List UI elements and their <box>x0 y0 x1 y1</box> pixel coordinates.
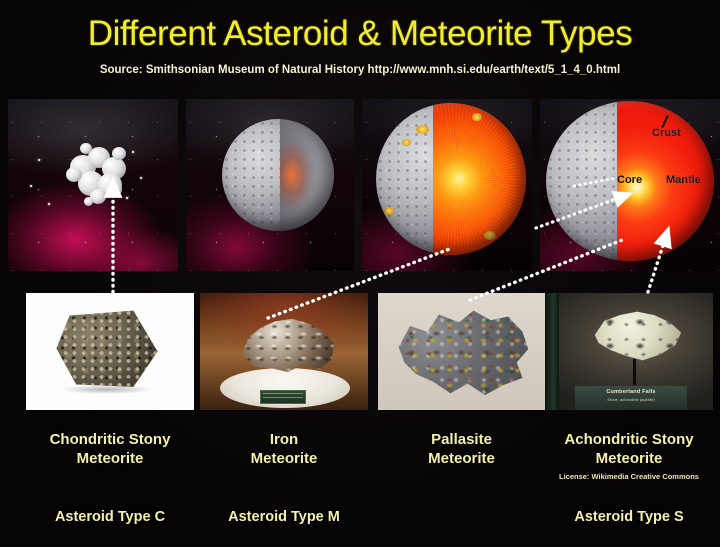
label-mantle: Mantle <box>666 174 701 186</box>
slide-canvas: Different Asteroid & Meteorite Types Sou… <box>0 0 720 547</box>
diagram-molten-differentiated-body <box>362 99 532 271</box>
diagram-differentiated-body-labelled: Crust Core Mantle <box>540 99 720 271</box>
chondritic-stony-meteorite-photo <box>26 293 194 410</box>
museum-placard-subtitle: Stone, achondrite (aubrite) <box>575 397 687 402</box>
museum-placard-title: Cumberland Falls <box>575 389 687 395</box>
caption-achondritic-stony-meteorite: Achondritic Stony Meteorite <box>545 430 713 468</box>
iron-meteorite-texture <box>234 315 338 377</box>
caption-line-2: Meteorite <box>26 449 194 468</box>
caption-line-2: Meteorite <box>378 449 545 468</box>
museum-placard: Cumberland Falls Stone, achondrite (aubr… <box>575 386 687 410</box>
achondrite-texture <box>589 307 685 365</box>
caption-pallasite-meteorite: Pallasite Meteorite <box>378 430 545 468</box>
diagram-undifferentiated-body <box>186 99 354 271</box>
asteroid-type-m: Asteroid Type M <box>200 509 368 525</box>
caption-chondritic-stony-meteorite: Chondritic Stony Meteorite <box>26 430 194 468</box>
diagram-rubble-pile-asteroid <box>8 99 178 271</box>
rubble-pile-asteroid-icon <box>60 141 134 207</box>
caption-line-1: Iron <box>200 430 368 449</box>
license-note: License: Wikimedia Creative Commons <box>545 472 713 481</box>
chondrite-texture <box>52 309 162 391</box>
pallasite-meteorite-photo <box>378 293 545 410</box>
placard-text-lines <box>263 393 303 401</box>
pallasite-olivine-texture <box>390 303 534 399</box>
caption-line-1: Achondritic Stony <box>545 430 713 449</box>
caption-iron-meteorite: Iron Meteorite <box>200 430 368 468</box>
label-crust: Crust <box>652 127 681 139</box>
cutaway-sphere <box>376 103 526 255</box>
achondritic-stony-meteorite-photo: Cumberland Falls Stone, achondrite (aubr… <box>545 293 713 410</box>
caption-line-2: Meteorite <box>545 449 713 468</box>
chondrite-shadow <box>60 385 152 394</box>
source-credit: Source: Smithsonian Museum of Natural Hi… <box>0 64 720 76</box>
exhibit-placard <box>260 390 306 404</box>
caption-line-2: Meteorite <box>200 449 368 468</box>
page-title: Different Asteroid & Meteorite Types <box>0 14 720 54</box>
caption-line-1: Pallasite <box>378 430 545 449</box>
asteroid-type-s: Asteroid Type S <box>545 509 713 525</box>
iron-meteorite-photo <box>200 293 368 410</box>
display-case-edge <box>545 293 559 410</box>
asteroid-type-c: Asteroid Type C <box>26 509 194 525</box>
cutaway-sphere <box>222 119 334 231</box>
caption-line-1: Chondritic Stony <box>26 430 194 449</box>
specimen-stand <box>633 359 636 385</box>
label-core: Core <box>617 174 642 186</box>
